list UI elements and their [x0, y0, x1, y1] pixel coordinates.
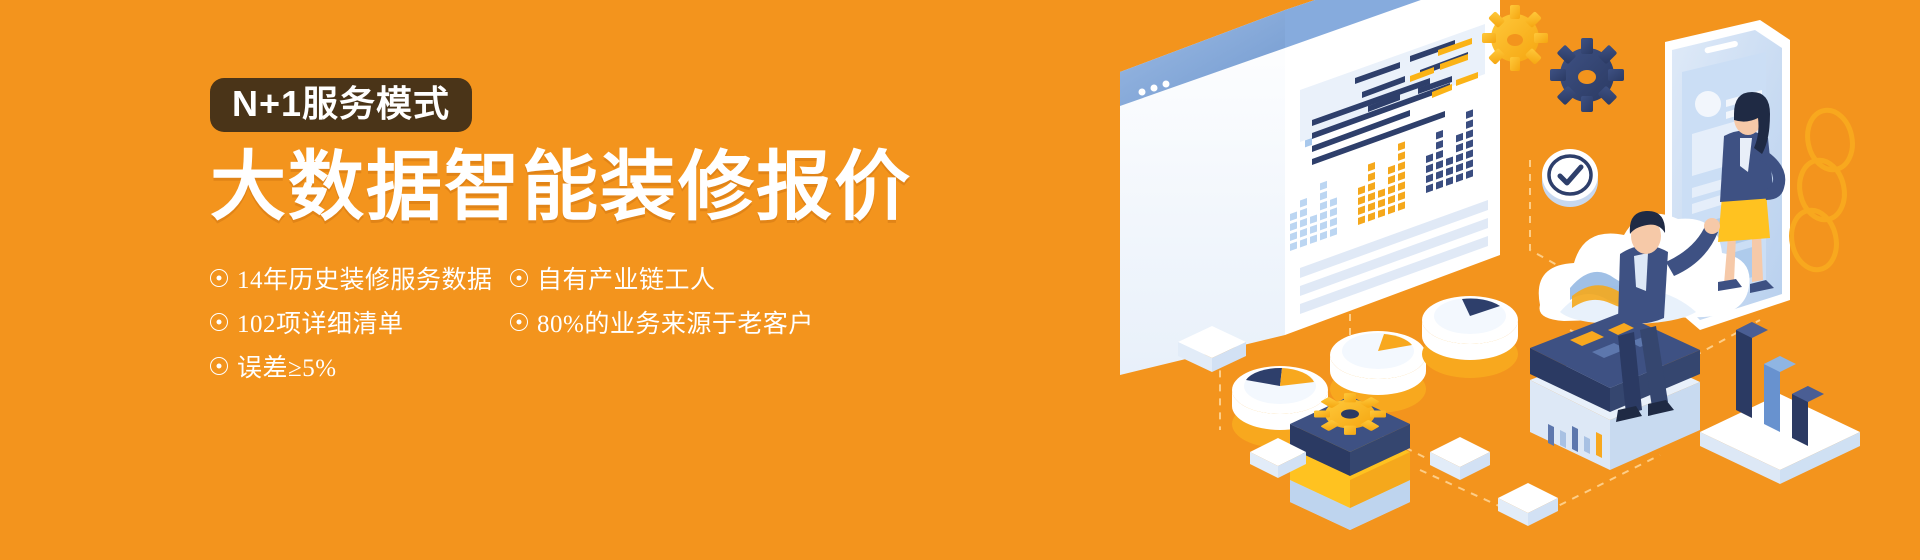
bullet-dot-icon: [210, 357, 228, 375]
browser-window: [1120, 0, 1290, 375]
list-item-label: 80%的业务来源于老客户: [537, 304, 814, 340]
bullet-dot-icon: [510, 269, 528, 287]
page-title: 大数据智能装修报价: [210, 148, 950, 228]
check-badge-icon: [1542, 149, 1598, 207]
banner-text-block: N+1服务模式 大数据智能装修报价 14年历史装修服务数据 自有产业链工人 10…: [210, 78, 950, 388]
list-item: 自有产业链工人: [510, 260, 830, 296]
server-box: [1530, 313, 1700, 470]
isometric-big-data-scene: [1100, 0, 1920, 560]
list-item: 误差≥5%: [210, 348, 510, 384]
bullet-dot-icon: [210, 269, 228, 287]
ring-stack: [1786, 106, 1858, 274]
gear-icon: [1550, 38, 1624, 112]
bar-column-chart: [1700, 322, 1860, 484]
feature-list: 14年历史装修服务数据 自有产业链工人 102项详细清单 80%的业务来源于老客…: [210, 256, 850, 388]
floating-card: [1430, 437, 1490, 480]
bullet-dot-icon: [210, 313, 228, 331]
list-item: 80%的业务来源于老客户: [510, 304, 830, 340]
list-item-label: 误差≥5%: [237, 348, 337, 384]
list-item-label: 14年历史装修服务数据: [237, 260, 493, 296]
list-item-label: 102项详细清单: [237, 304, 404, 340]
gear-icon: [1482, 5, 1548, 71]
floating-card: [1498, 483, 1558, 526]
list-item-label: 自有产业链工人: [537, 260, 716, 296]
list-item: 14年历史装修服务数据: [210, 260, 510, 296]
service-model-badge: N+1服务模式: [210, 78, 472, 132]
list-item: 102项详细清单: [210, 304, 510, 340]
bullet-dot-icon: [510, 313, 528, 331]
promo-banner: N+1服务模式 大数据智能装修报价 14年历史装修服务数据 自有产业链工人 10…: [0, 0, 1920, 560]
